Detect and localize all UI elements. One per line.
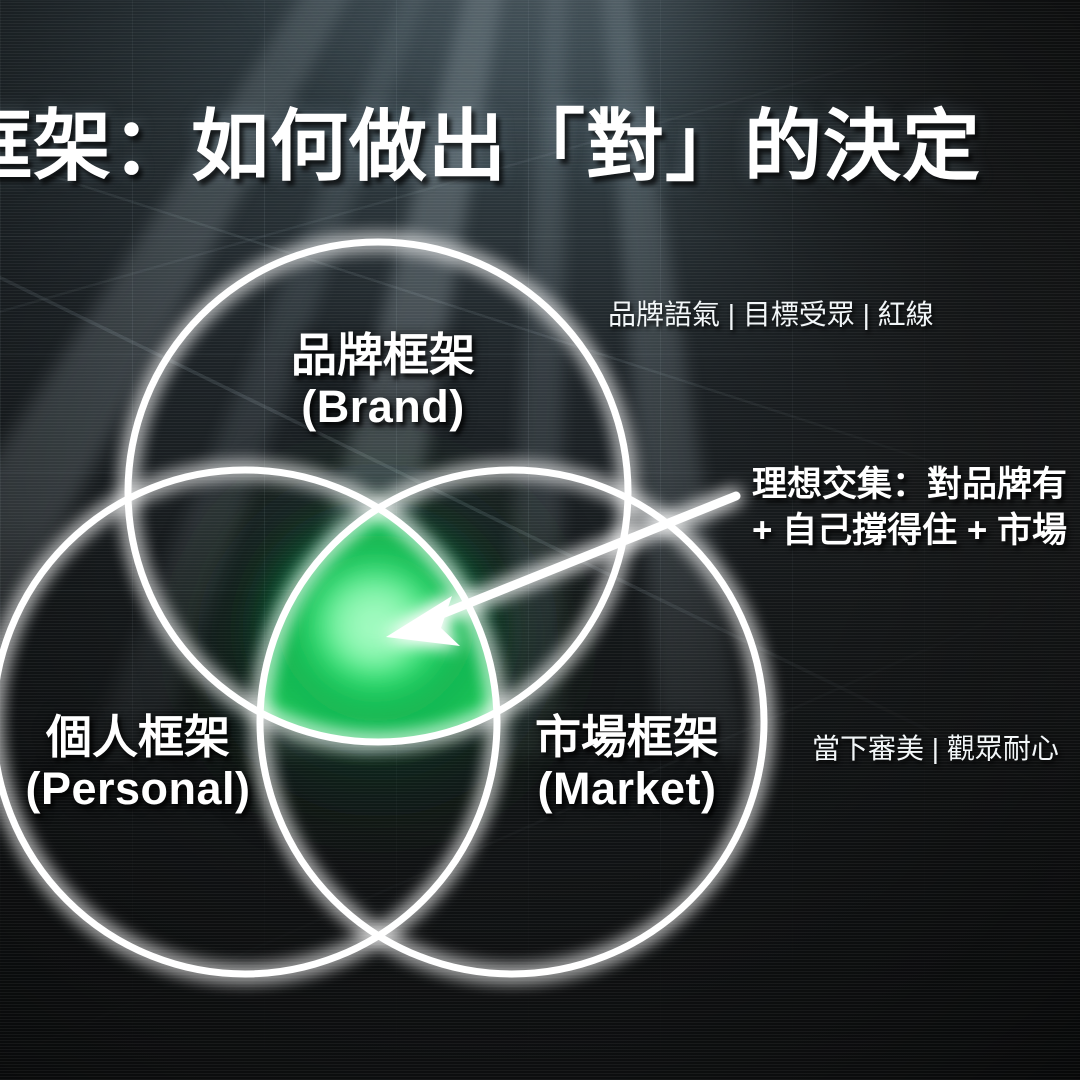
callout-line-2: + 自己撐得住 + 市場: [752, 508, 1080, 554]
callout-text: 理想交集：對品牌有 + 自己撐得住 + 市場: [752, 462, 1080, 554]
venn-label-market-zh: 市場框架: [487, 712, 767, 764]
venn-label-brand: 品牌框架 (Brand): [233, 330, 533, 432]
venn-label-personal-en: (Personal): [0, 764, 288, 814]
venn-label-market: 市場框架 (Market): [487, 712, 767, 814]
note-brand-attributes: 品牌語氣 | 目標受眾 | 紅線: [608, 293, 934, 333]
callout-line-1: 理想交集：對品牌有: [752, 462, 1080, 508]
venn-label-personal: 個人框架 (Personal): [0, 712, 288, 814]
page-title: 框架：如何做出「對」的決定: [0, 84, 1080, 196]
note-market-attributes: 當下審美 | 觀眾耐心: [812, 727, 1059, 767]
venn-label-market-en: (Market): [487, 764, 767, 814]
intersection-glow: [80, 350, 700, 970]
venn-label-brand-en: (Brand): [233, 382, 533, 432]
venn-label-brand-zh: 品牌框架: [233, 330, 533, 382]
venn-label-personal-zh: 個人框架: [0, 712, 288, 764]
slide-canvas: 框架：如何做出「對」的決定 品牌框架 (Brand) 個人框架 (Persona…: [0, 0, 1080, 1080]
